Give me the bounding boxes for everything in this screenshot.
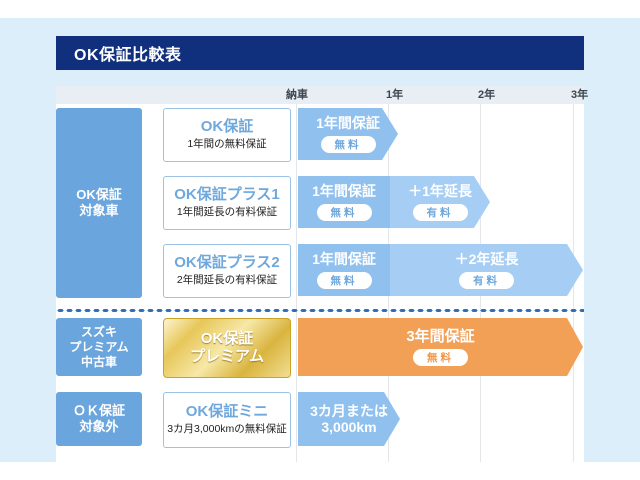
category-label-line2: 対象車 bbox=[79, 203, 118, 219]
bar-premium-free-3year: 3年間保証 無料 bbox=[298, 318, 583, 376]
category-label-line2: プレミアム bbox=[69, 340, 128, 355]
bar-badge-paid: 有料 bbox=[413, 204, 468, 221]
bar-label: 1年間保証 bbox=[316, 115, 380, 131]
bar-label: 3年間保証 bbox=[406, 328, 474, 345]
bar-row3-free-1year: 1年間保証 無料 bbox=[298, 244, 390, 296]
bar-mini-3months: 3カ月または 3,000km bbox=[298, 392, 400, 446]
bar-row2-paid-extend-1year: ＋1年延長 有料 bbox=[390, 176, 490, 228]
product-title-line2: プレミアム bbox=[190, 348, 264, 366]
category-suzuki-premium-used-car: スズキ プレミアム 中古車 bbox=[56, 318, 142, 376]
warranty-comparison-chart: OK保証比較表 納車 1年 2年 3年 OK保証 対象車 OK保証 1年間の無料… bbox=[0, 0, 640, 480]
page-title: OK保証比較表 bbox=[74, 41, 182, 65]
category-label-line3: 中古車 bbox=[81, 355, 117, 370]
section-divider bbox=[56, 308, 584, 313]
product-card-ok-warranty-plus2[interactable]: OK保証プラス2 2年間延長の有料保証 bbox=[163, 244, 291, 298]
timeline-label-year3: 3年 bbox=[571, 86, 588, 104]
product-subtitle: 2年間延長の有料保証 bbox=[177, 275, 277, 287]
bar-badge-paid: 有料 bbox=[459, 272, 514, 289]
product-subtitle: 1年間の無料保証 bbox=[187, 139, 266, 151]
bar-row3-paid-extend-2year: ＋2年延長 有料 bbox=[390, 244, 583, 296]
bar-row1-free-1year: 1年間保証 無料 bbox=[298, 108, 398, 160]
product-title: OK保証ミニ bbox=[186, 404, 269, 421]
bar-label-line1: 3カ月または bbox=[310, 403, 388, 419]
timeline-label-delivery: 納車 bbox=[286, 86, 308, 104]
gridline-delivery bbox=[296, 104, 297, 462]
bar-label: ＋1年延長 bbox=[408, 183, 472, 199]
bar-badge-free: 無料 bbox=[317, 272, 372, 289]
product-title-line1: OK保証 bbox=[201, 330, 254, 348]
bar-label: ＋2年延長 bbox=[455, 251, 519, 267]
product-title: OK保証プラス2 bbox=[174, 255, 280, 272]
bar-label: 1年間保証 bbox=[312, 183, 376, 199]
bar-badge-free: 無料 bbox=[317, 204, 372, 221]
category-label-line1: スズキ bbox=[81, 325, 117, 340]
category-label-line2: 対象外 bbox=[79, 419, 118, 435]
timeline-header-strip bbox=[56, 86, 584, 104]
product-card-ok-warranty[interactable]: OK保証 1年間の無料保証 bbox=[163, 108, 291, 162]
category-label-line1: OK保証 bbox=[76, 187, 122, 203]
product-subtitle: 3カ月3,000kmの無料保証 bbox=[167, 424, 287, 436]
timeline-label-year2: 2年 bbox=[478, 86, 495, 104]
bar-badge-free: 無料 bbox=[413, 349, 468, 366]
product-card-ok-warranty-plus1[interactable]: OK保証プラス1 1年間延長の有料保証 bbox=[163, 176, 291, 230]
product-card-ok-warranty-premium[interactable]: OK保証 プレミアム bbox=[163, 318, 291, 378]
category-not-eligible: ＯＫ保証 対象外 bbox=[56, 392, 142, 446]
product-title: OK保証プラス1 bbox=[174, 187, 280, 204]
bar-badge-free: 無料 bbox=[321, 136, 376, 153]
title-bar: OK保証比較表 bbox=[56, 36, 584, 70]
bar-label: 1年間保証 bbox=[312, 251, 376, 267]
bar-row2-free-1year: 1年間保証 無料 bbox=[298, 176, 390, 228]
bar-label-line2: 3,000km bbox=[321, 419, 376, 435]
category-label-line1: ＯＫ保証 bbox=[73, 403, 125, 419]
timeline-label-year1: 1年 bbox=[386, 86, 403, 104]
product-subtitle: 1年間延長の有料保証 bbox=[177, 207, 277, 219]
product-card-ok-warranty-mini[interactable]: OK保証ミニ 3カ月3,000kmの無料保証 bbox=[163, 392, 291, 448]
category-ok-warranty-eligible: OK保証 対象車 bbox=[56, 108, 142, 298]
product-title: OK保証 bbox=[201, 119, 254, 136]
